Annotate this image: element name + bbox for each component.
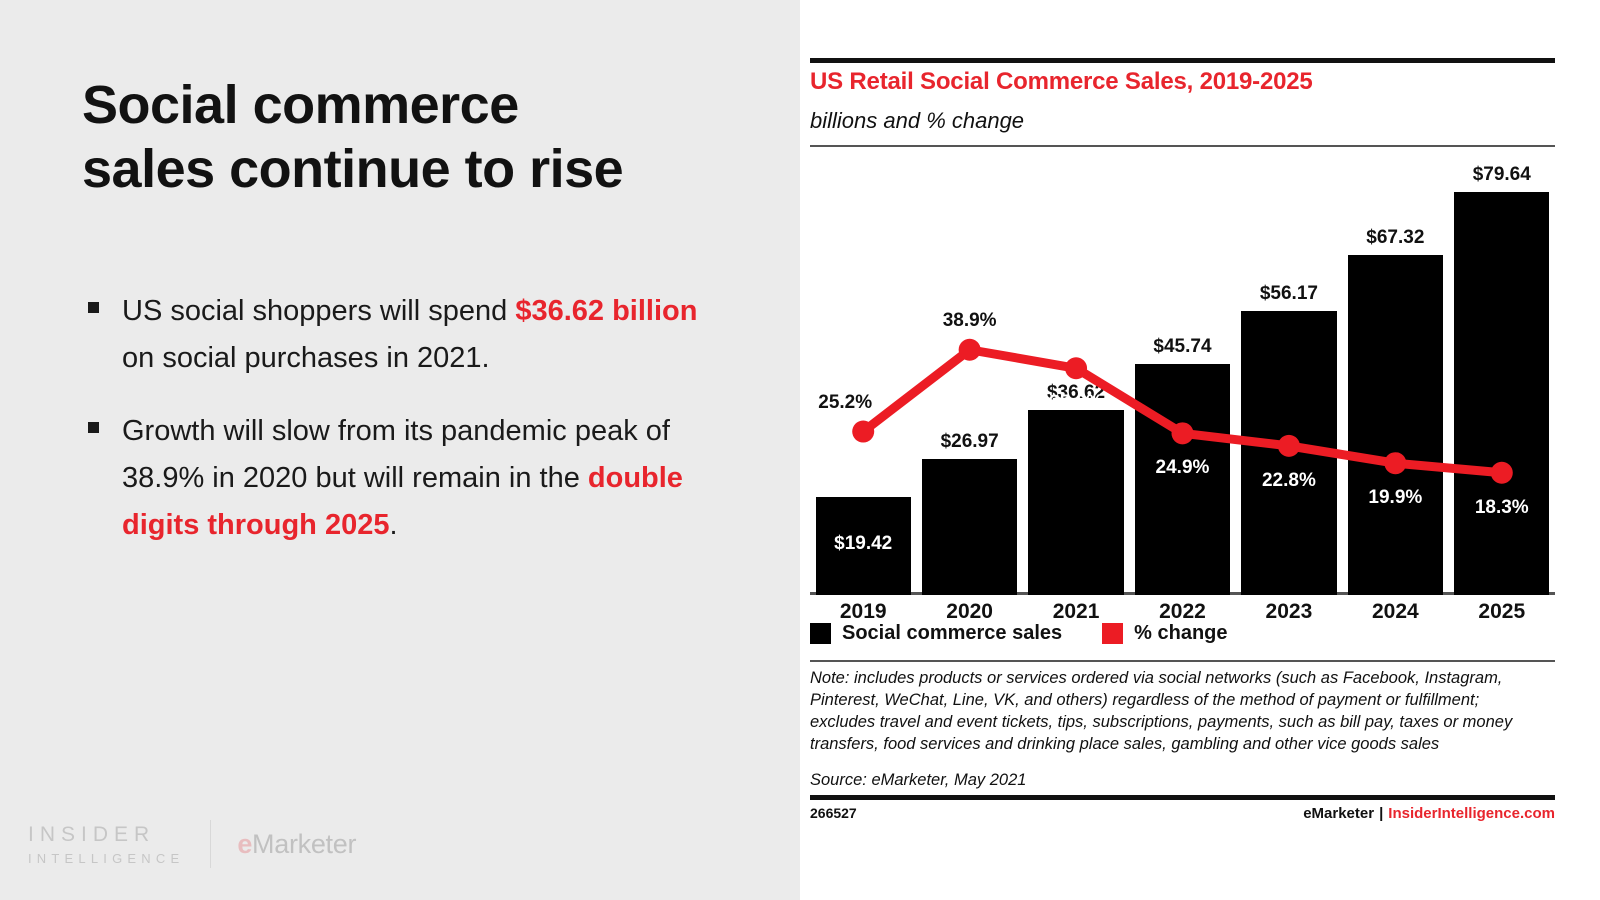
chart-source: Source: eMarketer, May 2021 [810, 771, 1545, 790]
intelligence-word: INTELLIGENCE [28, 852, 184, 865]
legend-label: % change [1134, 622, 1227, 645]
bullet-square-icon [88, 422, 99, 433]
headline-line-2: sales continue to rise [82, 138, 742, 202]
bullet-text: . [389, 509, 397, 541]
chart-subtitle: billions and % change [810, 108, 1550, 134]
bullet-list: US social shoppers will spend $36.62 bil… [86, 288, 706, 575]
legend-label: Social commerce sales [842, 622, 1062, 645]
page-title: Social commerce sales continue to rise [82, 74, 742, 201]
footer-separator: | [1379, 805, 1383, 822]
footer-attribution: eMarketer|InsiderIntelligence.com [1303, 805, 1555, 822]
rule-under-title [810, 145, 1555, 147]
list-item: US social shoppers will spend $36.62 bil… [86, 288, 706, 382]
chart-legend: Social commerce sales% change [810, 622, 1268, 645]
percent-change-label: 38.9% [907, 310, 1032, 332]
chart-note: Note: includes products or services orde… [810, 668, 1545, 756]
line-marker-2020[interactable] [959, 339, 981, 361]
x-axis-label-2019: 2019 [810, 600, 916, 624]
chart-plot-area: $19.42$26.97$36.62$45.74$56.17$67.32$79.… [810, 150, 1555, 595]
line-marker-2025[interactable] [1491, 462, 1513, 484]
x-axis-label-2020: 2020 [916, 600, 1022, 624]
percent-change-label: 35.8% [1013, 392, 1138, 414]
chart-id: 266527 [810, 805, 857, 821]
legend-item-line[interactable]: % change [1102, 622, 1227, 645]
rule-footer [810, 795, 1555, 800]
headline-line-1: Social commerce [82, 74, 742, 138]
line-marker-2024[interactable] [1384, 452, 1406, 474]
percent-change-label: 25.2% [783, 392, 908, 414]
x-axis-label-2022: 2022 [1129, 600, 1235, 624]
legend-swatch-line [1102, 623, 1123, 644]
x-axis-label-2023: 2023 [1236, 600, 1342, 624]
chart-panel: US Retail Social Commerce Sales, 2019-20… [800, 0, 1600, 900]
bullet-square-icon [88, 302, 99, 313]
insider-intelligence-logo: INSIDER INTELLIGENCE [28, 824, 184, 865]
bullet-highlight: $36.62 billion [515, 295, 697, 327]
emarketer-logo: eMarketer [237, 829, 356, 860]
slide: Social commerce sales continue to rise U… [0, 0, 1600, 900]
list-item: Growth will slow from its pandemic peak … [86, 408, 706, 549]
line-marker-2021[interactable] [1065, 357, 1087, 379]
line-marker-2023[interactable] [1278, 435, 1300, 457]
logo-divider [210, 820, 211, 868]
footer-website-link[interactable]: InsiderIntelligence.com [1388, 805, 1555, 822]
footer-emarketer: eMarketer [1303, 805, 1374, 822]
insider-word: INSIDER [28, 824, 184, 845]
chart-title: US Retail Social Commerce Sales, 2019-20… [810, 68, 1550, 96]
brand-logo: INSIDER INTELLIGENCE eMarketer [28, 820, 356, 868]
percent-change-line-series [810, 150, 1555, 595]
bullet-text: on social purchases in 2021. [122, 342, 490, 374]
x-axis-label-2025: 2025 [1449, 600, 1555, 624]
legend-swatch-bars [810, 623, 831, 644]
line-marker-2022[interactable] [1172, 422, 1194, 444]
rule-above-note [810, 660, 1555, 662]
percent-change-label: 18.3% [1439, 497, 1564, 519]
emarketer-rest: Marketer [252, 829, 356, 859]
line-path [863, 350, 1502, 473]
line-marker-2019[interactable] [852, 421, 874, 443]
legend-item-bars[interactable]: Social commerce sales [810, 622, 1062, 645]
left-panel: Social commerce sales continue to rise U… [0, 0, 800, 900]
bullet-text: US social shoppers will spend [122, 295, 515, 327]
rule-top [810, 58, 1555, 63]
x-axis-label-2024: 2024 [1342, 600, 1448, 624]
emarketer-e: e [237, 829, 252, 859]
x-axis-label-2021: 2021 [1023, 600, 1129, 624]
